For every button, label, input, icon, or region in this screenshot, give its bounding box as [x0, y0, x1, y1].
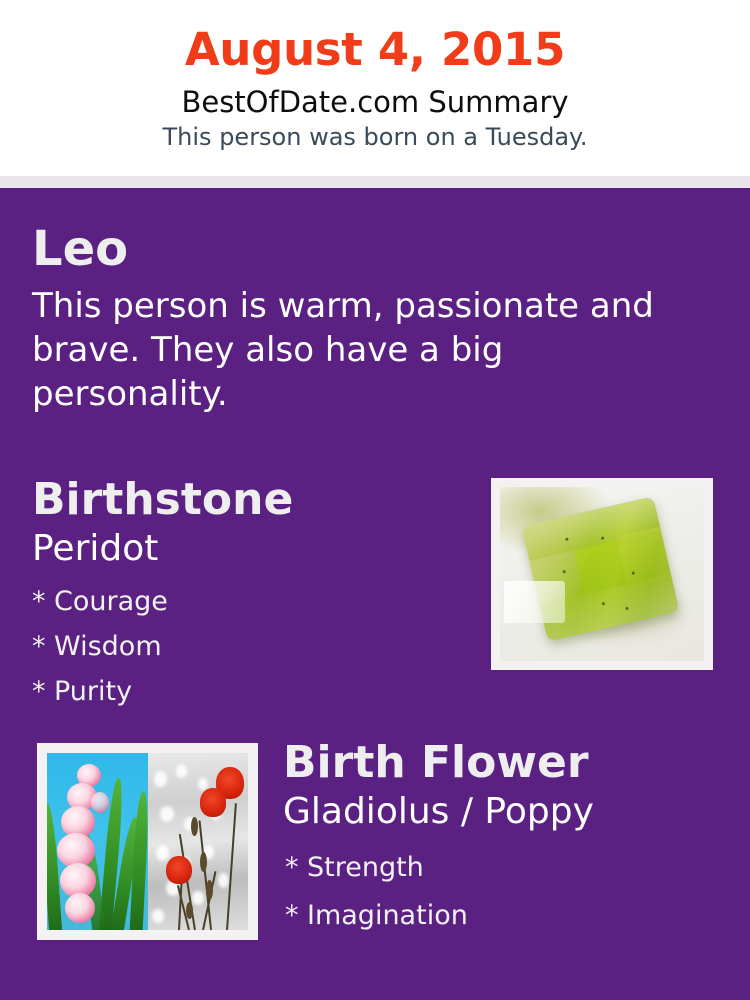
born-day-line: This person was born on a Tuesday.: [0, 120, 750, 153]
list-item: *Imagination: [285, 892, 723, 940]
birth-flower-trait-label: Imagination: [307, 900, 468, 931]
birthstone-trait-list: *Courage *Wisdom *Purity: [32, 571, 472, 714]
poppy-bloom: [200, 788, 226, 816]
poppy-photo-half: [148, 753, 249, 930]
gem-inclusion: [562, 570, 566, 574]
birthstone-trait-label: Courage: [54, 586, 168, 617]
gladiolus-and-poppy-image: [47, 753, 248, 930]
gem-inclusion: [631, 571, 635, 575]
list-item: *Purity: [32, 669, 472, 714]
zodiac-section: Leo This person is warm, passionate and …: [32, 222, 692, 416]
bokeh-light: [154, 771, 167, 787]
gladiolus-bloom: [65, 893, 95, 923]
birthstone-heading: Birthstone: [32, 475, 472, 525]
poppy-bud: [186, 902, 193, 920]
gladiolus-bloom: [91, 792, 109, 813]
birth-flower-trait-label: Strength: [307, 852, 424, 883]
list-item: *Wisdom: [32, 624, 472, 669]
asterisk-icon: *: [32, 579, 54, 624]
poppy-bud: [191, 817, 198, 836]
bokeh-light: [192, 891, 204, 905]
gem-highlight: [504, 581, 565, 623]
birthday-summary-page: August 4, 2015 BestOfDate.com Summary Th…: [0, 0, 750, 1000]
asterisk-icon: *: [32, 624, 54, 669]
asterisk-icon: *: [285, 844, 307, 892]
gladiolus-photo-half: [47, 753, 148, 930]
header-divider: [0, 176, 750, 188]
poppy-stem: [226, 803, 237, 930]
birth-flower-image-frame: [37, 743, 258, 940]
birth-flower-name: Gladiolus / Poppy: [283, 788, 723, 834]
asterisk-icon: *: [285, 892, 307, 940]
birth-flower-section: Birth Flower Gladiolus / Poppy *Strength…: [283, 738, 723, 940]
birth-flower-trait-list: *Strength *Imagination: [283, 834, 723, 940]
bokeh-light: [176, 764, 187, 778]
birthstone-name: Peridot: [32, 525, 472, 571]
poppy-bloom: [166, 856, 192, 884]
zodiac-description: This person is warm, passionate and brav…: [32, 276, 682, 416]
birth-flower-heading: Birth Flower: [283, 738, 723, 788]
page-title: August 4, 2015: [0, 0, 750, 78]
birthstone-trait-label: Purity: [54, 676, 132, 707]
gem-inclusion: [601, 602, 605, 606]
asterisk-icon: *: [32, 669, 54, 714]
bokeh-light: [156, 845, 169, 861]
bokeh-light: [160, 806, 174, 822]
birthstone-section: Birthstone Peridot *Courage *Wisdom *Pur…: [32, 475, 472, 714]
list-item: *Courage: [32, 579, 472, 624]
poppy-bud: [200, 852, 207, 871]
poppy-bud: [206, 880, 213, 899]
birthstone-trait-label: Wisdom: [54, 631, 162, 662]
list-item: *Strength: [285, 844, 723, 892]
summary-panel: Leo This person is warm, passionate and …: [0, 188, 750, 1000]
site-summary-label: BestOfDate.com Summary: [0, 78, 750, 120]
zodiac-sign-name: Leo: [32, 222, 692, 276]
bokeh-light: [152, 909, 164, 923]
birthstone-image-frame: [491, 478, 713, 670]
peridot-gemstone-image: [500, 487, 704, 661]
page-header: August 4, 2015 BestOfDate.com Summary Th…: [0, 0, 750, 176]
bokeh-light: [218, 873, 229, 887]
